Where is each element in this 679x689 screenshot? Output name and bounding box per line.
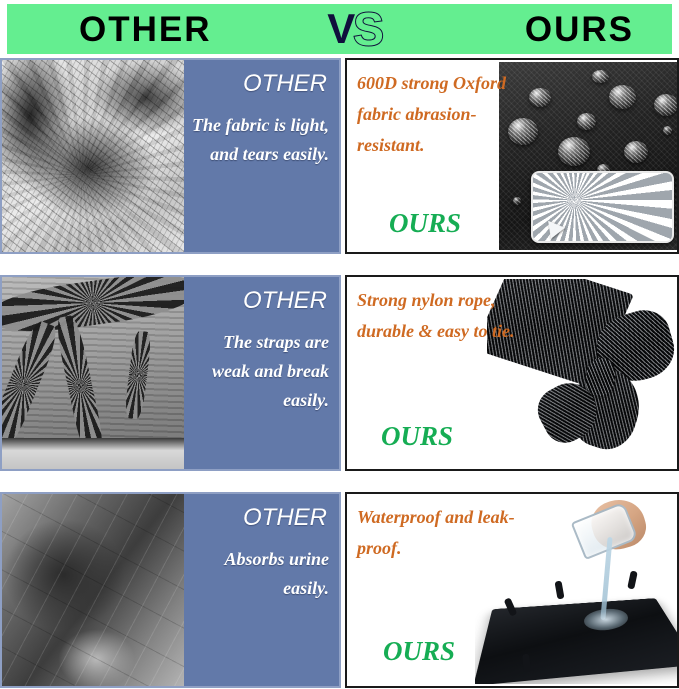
- other-text-block-2: OTHER The straps are weak and break easi…: [184, 277, 339, 469]
- waterproof-mat: [475, 598, 677, 684]
- other-label-1: OTHER: [188, 71, 327, 97]
- other-body-2: The straps are weak and break easily.: [188, 328, 329, 415]
- ours-panel-1: 600D strong Oxford fabric abrasion-resis…: [345, 58, 679, 254]
- other-panel-1: OTHER The fabric is light, and tears eas…: [0, 58, 341, 254]
- frayed-straps-art: [2, 277, 184, 469]
- strap-segment: [53, 314, 106, 458]
- ours-body-3: Waterproof and leak-proof.: [357, 502, 545, 564]
- other-body-1: The fabric is light, and tears easily.: [188, 111, 329, 169]
- other-panel-2: OTHER The straps are weak and break easi…: [0, 275, 341, 471]
- ours-text-block-3: Waterproof and leak-proof.: [357, 502, 545, 564]
- ours-body-2: Strong nylon rope, durable & easy to tie…: [357, 285, 537, 347]
- water-bead: [513, 197, 521, 205]
- inset-arrow-icon: [541, 215, 565, 239]
- strap-segment: [124, 330, 153, 420]
- header-banner: OTHER V S OURS: [7, 4, 672, 54]
- ours-label-1: OURS: [389, 208, 461, 239]
- mat-tie: [554, 580, 564, 599]
- water-bead: [558, 137, 590, 166]
- ours-body-1: 600D strong Oxford fabric abrasion-resis…: [357, 68, 527, 161]
- ours-label-3: OURS: [383, 636, 455, 667]
- comparison-row-1: OTHER The fabric is light, and tears eas…: [0, 58, 679, 254]
- other-text-block-3: OTHER Absorbs urine easily.: [184, 494, 339, 686]
- ours-text-block-1: 600D strong Oxford fabric abrasion-resis…: [357, 68, 527, 161]
- water-bead: [663, 126, 672, 135]
- ours-panel-2: Strong nylon rope, durable & easy to tie…: [345, 275, 679, 471]
- other-label-2: OTHER: [188, 288, 327, 314]
- ours-label-2: OURS: [381, 421, 453, 452]
- other-photo-fabric: [2, 60, 184, 252]
- header-ours-label: OURS: [525, 12, 634, 47]
- ours-panel-3: Waterproof and leak-proof. OURS: [345, 492, 679, 688]
- floor-strip: [2, 438, 184, 469]
- stained-sheet-art: [2, 494, 184, 686]
- water-bead: [592, 70, 609, 83]
- water-bead: [529, 88, 551, 107]
- water-bead: [624, 141, 648, 163]
- water-bead: [577, 113, 596, 130]
- comparison-infographic: OTHER V S OURS OTHER The fabric is light…: [0, 0, 679, 689]
- strap-segment: [2, 277, 184, 339]
- comparison-row-3: OTHER Absorbs urine easily.: [0, 492, 679, 688]
- fleece-texture-art: [2, 60, 184, 252]
- other-panel-3: OTHER Absorbs urine easily.: [0, 492, 341, 688]
- header-other-label: OTHER: [79, 12, 212, 47]
- other-label-3: OTHER: [188, 505, 327, 531]
- ours-text-block-2: Strong nylon rope, durable & easy to tie…: [357, 285, 537, 347]
- water-bead: [654, 94, 677, 116]
- other-photo-straps: [2, 277, 184, 469]
- strap-segment: [2, 319, 62, 451]
- macro-detail-inset: [531, 171, 674, 243]
- vs-letter-s: S: [353, 6, 384, 52]
- other-text-block-1: OTHER The fabric is light, and tears eas…: [184, 60, 339, 252]
- water-bead: [609, 85, 636, 109]
- other-body-3: Absorbs urine easily.: [188, 545, 329, 603]
- vs-letter-v: V: [327, 8, 355, 50]
- mat-tie: [627, 571, 638, 590]
- comparison-row-2: OTHER The straps are weak and break easi…: [0, 275, 679, 471]
- other-photo-stain: [2, 494, 184, 686]
- vs-badge: V S: [325, 6, 411, 52]
